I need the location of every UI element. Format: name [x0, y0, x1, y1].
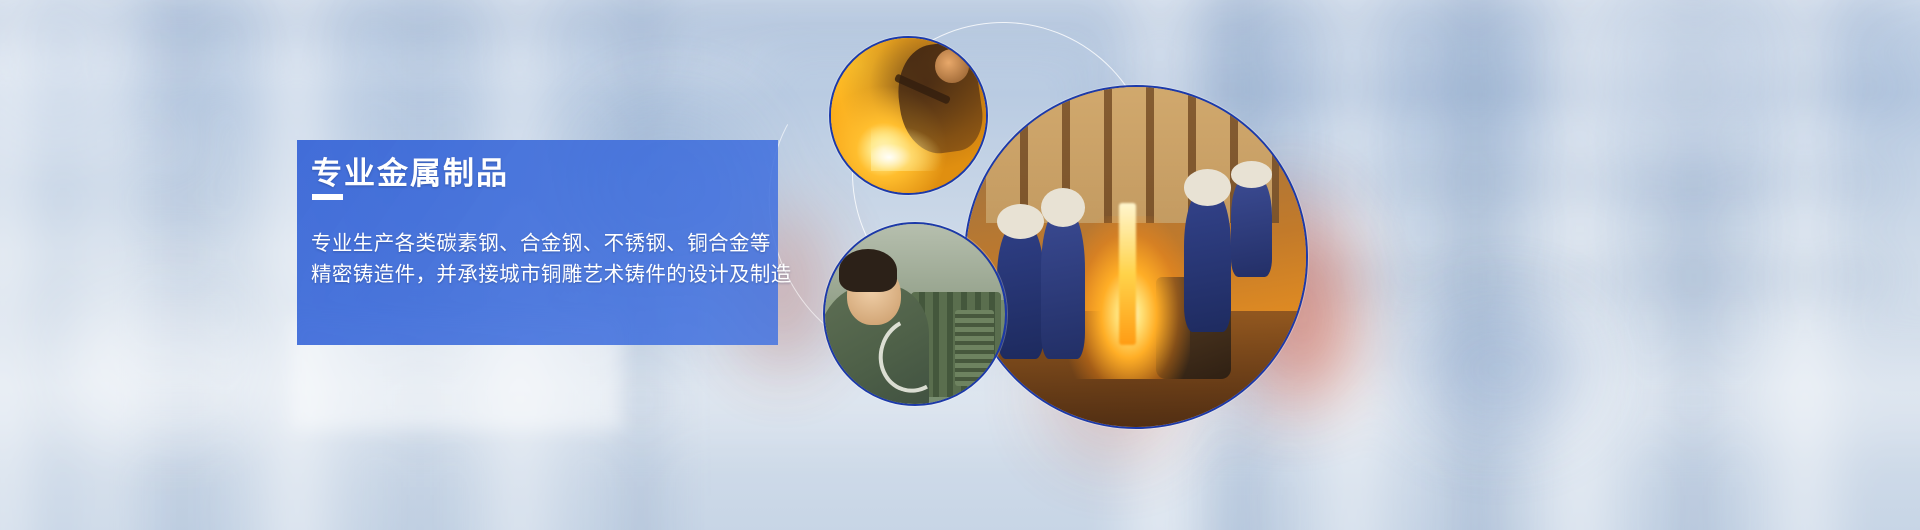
page-title: 专业金属制品: [311, 148, 509, 193]
description-text: 专业生产各类碳素钢、合金钢、不锈钢、铜合金等 精密铸造件，并承接城市铜雕艺术铸件…: [311, 228, 831, 290]
title-divider: [312, 194, 343, 200]
promo-banner: 专业金属制品 专业生产各类碳素钢、合金钢、不锈钢、铜合金等 精密铸造件，并承接城…: [0, 0, 1920, 530]
text-panel-content: 专业金属制品 专业生产各类碳素钢、合金钢、不锈钢、铜合金等 精密铸造件，并承接城…: [297, 140, 778, 345]
welding-photo: [829, 36, 988, 195]
inspection-photo: [823, 222, 1007, 406]
foundry-photo: [964, 85, 1308, 429]
description-line-1: 专业生产各类碳素钢、合金钢、不锈钢、铜合金等: [311, 228, 831, 259]
description-line-2: 精密铸造件，并承接城市铜雕艺术铸件的设计及制造: [311, 259, 831, 290]
